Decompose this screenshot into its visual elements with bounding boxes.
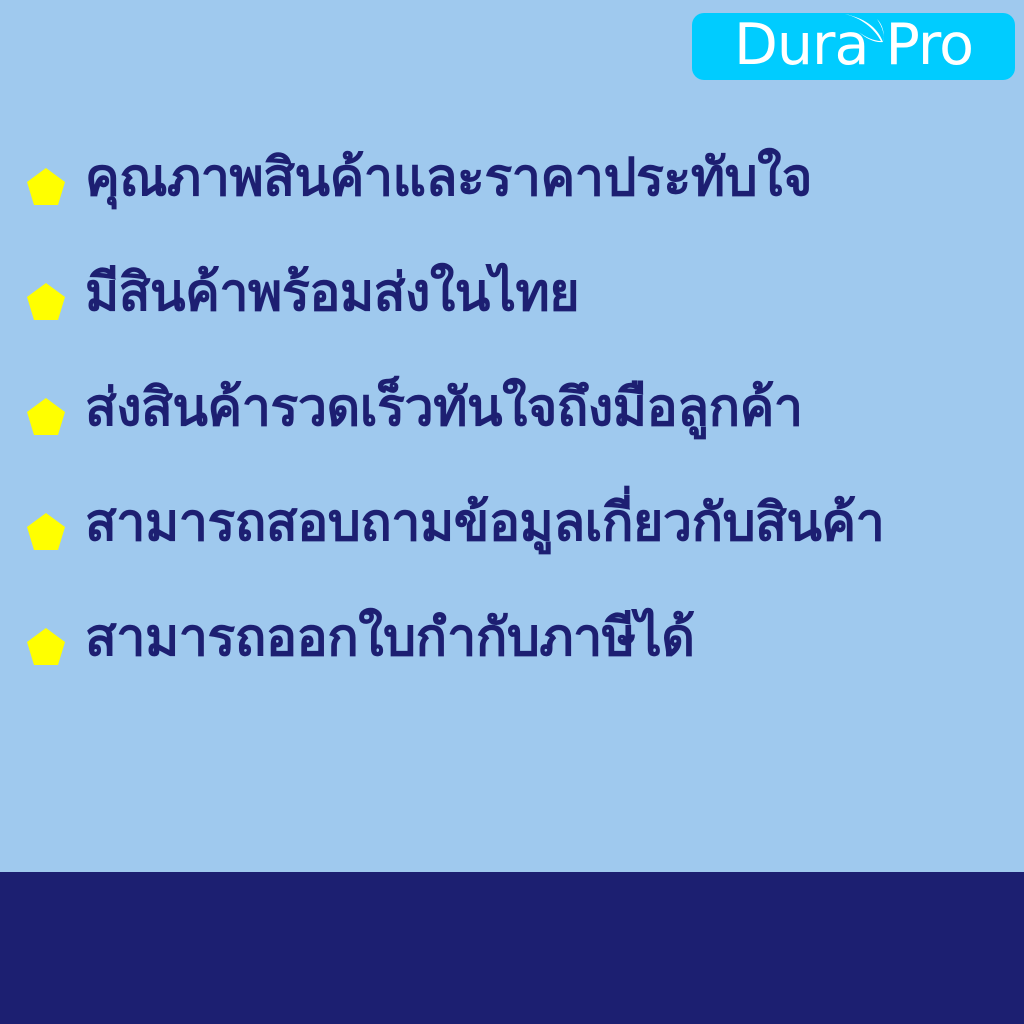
brand-logo-text: Dura Pro [692, 13, 1015, 80]
brand-logo-inner: Dura Pro [692, 13, 1015, 80]
pentagon-bullet-icon [27, 513, 65, 550]
list-item: ส่งสินค้ารวดเร็วทันใจถึงมือลูกค้า [0, 370, 1024, 485]
pentagon-bullet-icon [27, 398, 65, 435]
list-item: มีสินค้าพร้อมส่งในไทย [0, 255, 1024, 370]
benefit-text: สามารถออกใบกำกับภาษีได้ [85, 600, 695, 676]
benefits-list: คุณภาพสินค้าและราคาประทับใจ มีสินค้าพร้อ… [0, 140, 1024, 715]
list-item: สามารถสอบถามข้อมูลเกี่ยวกับสินค้า [0, 485, 1024, 600]
benefit-text: คุณภาพสินค้าและราคาประทับใจ [85, 140, 812, 216]
pentagon-bullet-icon [27, 628, 65, 665]
benefit-text: ส่งสินค้ารวดเร็วทันใจถึงมือลูกค้า [85, 370, 803, 446]
list-item: คุณภาพสินค้าและราคาประทับใจ [0, 140, 1024, 255]
pentagon-bullet-icon [27, 283, 65, 320]
benefit-text: สามารถสอบถามข้อมูลเกี่ยวกับสินค้า [85, 485, 884, 561]
benefit-text: มีสินค้าพร้อมส่งในไทย [85, 255, 579, 331]
banner-canvas: Dura Pro คุณภาพสินค้าและราคาประทับใจ มีส… [0, 0, 1024, 1024]
pentagon-bullet-icon [27, 168, 65, 205]
footer-bar [0, 872, 1024, 1024]
brand-logo-badge: Dura Pro [692, 13, 1015, 80]
list-item: สามารถออกใบกำกับภาษีได้ [0, 600, 1024, 715]
